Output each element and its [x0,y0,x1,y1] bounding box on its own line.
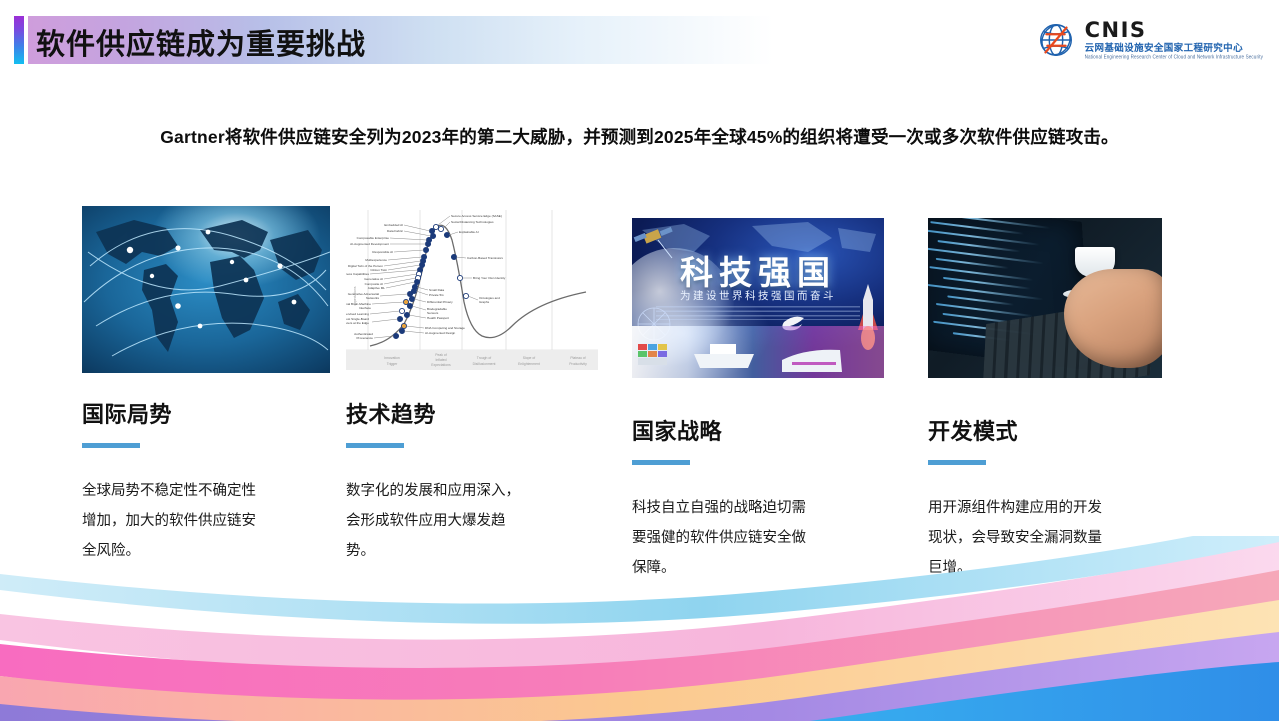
svg-text:Slope of: Slope of [523,356,535,360]
svg-text:Computers at the Edge: Computers at the Edge [346,321,369,325]
svg-text:Small Data: Small Data [429,288,444,292]
svg-text:Provenance: Provenance [356,336,373,340]
svg-text:Disillusionment: Disillusionment [473,362,496,366]
svg-text:Inflated: Inflated [435,358,446,362]
svg-text:Plateau of: Plateau of [570,356,585,360]
svg-text:Sensors: Sensors [427,311,439,315]
column-technology-trend: Secure Access Service Edge (SASE) Social… [346,206,598,566]
column-title: 国际局势 [82,397,330,429]
svg-text:Peak of: Peak of [435,353,447,357]
svg-text:Embedded AI: Embedded AI [384,223,403,227]
svg-text:AI-Augmented Development: AI-Augmented Development [350,242,389,246]
svg-text:Private 5G: Private 5G [429,293,444,297]
hype-cycle-chart-image: Secure Access Service Edge (SASE) Social… [346,206,598,373]
column-title: 国家战略 [632,414,884,446]
column-rule [82,443,140,448]
train-icon [782,350,842,372]
ship-icon [694,344,754,368]
column-international-situation: 国际局势 全球局势不稳定性不确定性增加，加大的软件供应链安全风险。 [82,206,330,566]
svg-text:Bring Your Own Identity: Bring Your Own Identity [473,276,506,280]
hype-cycle-chart: Secure Access Service Edge (SASE) Social… [346,206,598,373]
svg-text:Adaptive ML: Adaptive ML [368,286,385,290]
svg-text:Innovation: Innovation [384,356,400,360]
svg-text:Generative AI: Generative AI [364,277,383,281]
column-rule [346,443,404,448]
cnis-logo: CNIS 云网基础设施安全国家工程研究中心 National Engineeri… [1035,18,1263,62]
world-map-graphic [82,206,330,373]
page-title: 软件供应链成为重要挑战 [36,21,366,63]
svg-text:Responsible AI: Responsible AI [372,250,393,254]
logo-name-cn: 云网基础设施安全国家工程研究中心 [1085,44,1263,54]
column-body: 全球局势不稳定性不确定性增加，加大的软件供应链安全风险。 [82,476,270,566]
poster-transport-graphic [632,326,884,378]
svg-text:Differential Privacy: Differential Privacy [427,300,453,304]
svg-text:Carbon-Based Transistors: Carbon-Based Transistors [467,256,503,260]
svg-text:DNA Computing and Storage: DNA Computing and Storage [425,326,465,330]
column-body: 数字化的发展和应用深入，会形成软件应用大爆发趋势。 [346,476,534,566]
svg-text:Graphs: Graphs [479,300,490,304]
svg-text:Secure Access Service Edge (SA: Secure Access Service Edge (SASE) [451,214,502,218]
column-title: 开发模式 [928,414,1162,446]
svg-text:Self-Supervised Learning: Self-Supervised Learning [346,312,369,316]
svg-text:Trough of: Trough of [477,356,491,360]
world-network-image [82,206,330,373]
coding-laptop-image [928,218,1162,378]
feature-columns: 国际局势 全球局势不稳定性不确定性增加，加大的软件供应链安全风险。 [0,206,1279,586]
column-development-model: 开发模式 用开源组件构建应用的开发现状，会导致安全漏洞数量巨增。 [928,206,1162,583]
container-stack [638,344,667,365]
headline-statement: Gartner将软件供应链安全列为2023年的第二大威胁，并预测到2025年全球… [0,124,1279,149]
logo-text-block: CNIS 云网基础设施安全国家工程研究中心 National Engineeri… [1085,20,1263,60]
column-rule [928,460,986,465]
globe-icon [1035,19,1077,61]
svg-text:Multiexperience: Multiexperience [365,258,387,262]
svg-text:Health Passport: Health Passport [427,316,449,320]
page-header: 软件供应链成为重要挑战 CNIS 云网基础设施安全国家工程研究中心 Nation… [0,0,1279,78]
svg-text:Social Distancing Technologies: Social Distancing Technologies [451,220,494,224]
svg-text:Productivity: Productivity [569,362,587,366]
logo-name-en: National Engineering Research Center of … [1085,55,1263,60]
column-rule [632,460,690,465]
svg-text:Interface: Interface [359,306,371,310]
svg-text:Citizen Twin: Citizen Twin [370,268,387,272]
svg-text:Expectations: Expectations [431,363,451,367]
column-body: 用开源组件构建应用的开发现状，会导致安全漏洞数量巨增。 [928,493,1116,583]
svg-text:Explainable AI: Explainable AI [459,230,479,234]
svg-text:Networks: Networks [366,296,379,300]
svg-text:Packaged Business Capabilities: Packaged Business Capabilities [346,272,369,276]
svg-text:Data Fabric: Data Fabric [387,229,403,233]
tech-poster-image: 科技强国 为建设世界科技强国而奋斗 [632,218,884,378]
header-accent-bar [14,16,24,64]
column-title: 技术趋势 [346,397,598,429]
satellite-icon [634,227,673,258]
svg-text:Enlightenment: Enlightenment [518,362,540,366]
svg-text:Trigger: Trigger [387,362,398,366]
column-body: 科技自立自强的战略迫切需要强健的软件供应链安全做保障。 [632,493,820,583]
svg-text:expectations: expectations [353,286,357,305]
svg-text:AI-Augmented Design: AI-Augmented Design [425,331,456,335]
logo-brand: CNIS [1085,20,1263,41]
svg-text:Composable Enterprise: Composable Enterprise [357,236,390,240]
column-national-strategy: 科技强国 为建设世界科技强国而奋斗 [632,206,884,583]
